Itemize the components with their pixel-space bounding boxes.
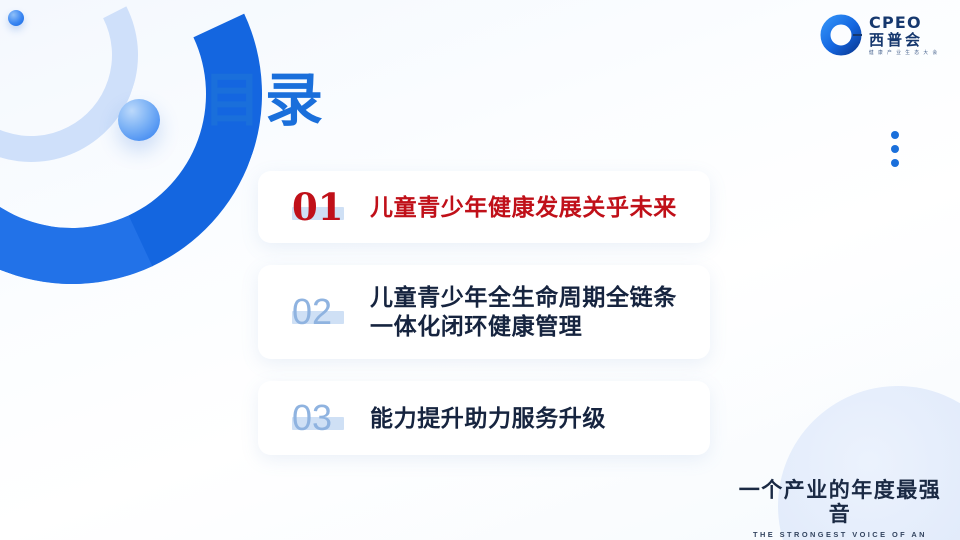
- brand-logo-subtitle: 健 康 产 业 生 态 大 会: [869, 50, 939, 55]
- tagline-english: THE STRONGEST VOICE OF AN INDUSTRY: [733, 530, 947, 540]
- toc-item-01[interactable]: 01 儿童青少年健康发展关乎未来: [258, 171, 710, 243]
- toc-number-wrap-01: 01: [292, 189, 370, 226]
- footer-tagline: 一个产业的年度最强音 THE STRONGEST VOICE OF AN IND…: [733, 479, 947, 540]
- toc-item-03[interactable]: 03 能力提升助力服务升级: [258, 381, 710, 455]
- blue-dot-decoration: [8, 10, 24, 26]
- toc-list: 01 儿童青少年健康发展关乎未来 02 儿童青少年全生命周期全链条 一体化闭环健…: [258, 171, 710, 455]
- dot: [891, 145, 899, 153]
- toc-item-02[interactable]: 02 儿童青少年全生命周期全链条 一体化闭环健康管理: [258, 265, 710, 359]
- dot: [891, 159, 899, 167]
- slide-canvas: CPEO 西普会 健 康 产 业 生 态 大 会 目录 01 儿童青少年健康发展…: [0, 0, 960, 540]
- dot: [891, 131, 899, 139]
- toc-number-03: 03: [292, 400, 332, 436]
- ring-logo-icon: [820, 14, 862, 56]
- brand-logo-cn: 西普会: [869, 33, 939, 48]
- toc-number-02: 02: [292, 294, 332, 330]
- toc-number-wrap-03: 03: [292, 400, 370, 436]
- brand-logo-text: CPEO 西普会 健 康 产 业 生 态 大 会: [869, 15, 939, 56]
- page-title: 目录: [203, 72, 327, 130]
- brand-logo-latin: CPEO: [869, 15, 939, 31]
- blue-sphere-decoration: [118, 99, 160, 141]
- three-dots-icon: [891, 131, 899, 167]
- brand-logo: CPEO 西普会 健 康 产 业 生 态 大 会: [820, 14, 939, 56]
- toc-label-02: 儿童青少年全生命周期全链条 一体化闭环健康管理: [370, 283, 677, 340]
- toc-label-03: 能力提升助力服务升级: [370, 404, 606, 433]
- tagline-chinese: 一个产业的年度最强音: [733, 479, 947, 527]
- toc-number-01: 01: [292, 189, 344, 226]
- toc-label-01: 儿童青少年健康发展关乎未来: [370, 193, 677, 222]
- toc-number-wrap-02: 02: [292, 294, 370, 330]
